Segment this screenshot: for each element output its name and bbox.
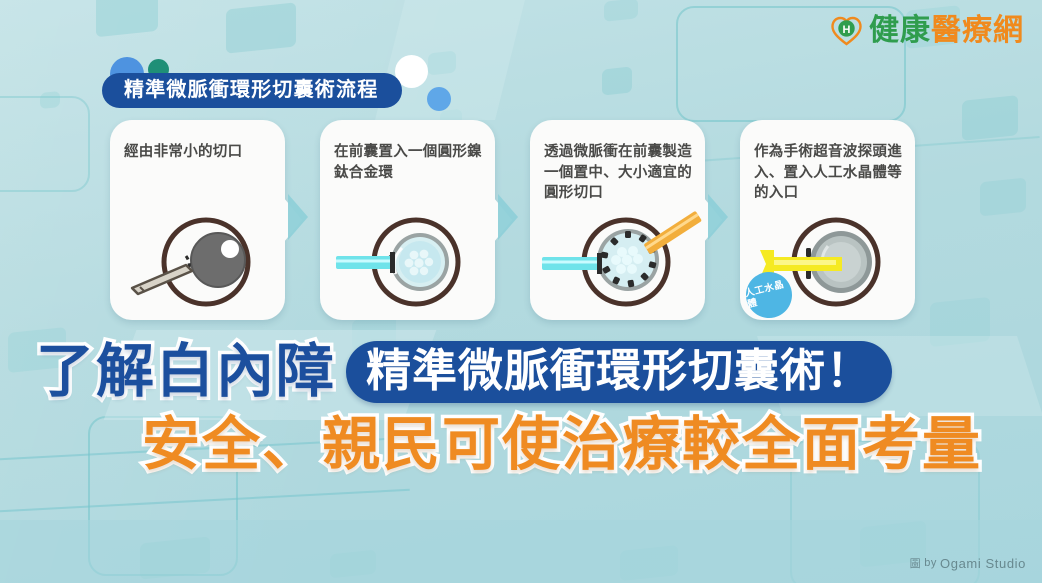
headline-line-1: 了解白內障 精準微脈衝環形切囊術！ [0, 334, 1042, 410]
site-logo: H 健康醫療網 [831, 16, 1024, 46]
credit-prefix: 圖 [910, 555, 922, 571]
svg-text:H: H [843, 24, 851, 36]
step-arrow-2 [498, 194, 518, 240]
credit-by: by [924, 557, 937, 569]
step-card-3: 透過微脈衝在前囊製造一個置中、大小適宜的圓形切口 [530, 120, 705, 320]
process-steps: 經由非常小的切口 在前囊置入一個圓形鎳鈦合金環 [0, 120, 1042, 335]
headline-subtext: 安全、親民可使治療較全面考量 [142, 416, 982, 474]
logo-text-green: 健康 [869, 16, 931, 46]
eye-with-capsulotomy-icon [530, 208, 705, 316]
decorative-dot-lightblue [427, 87, 451, 111]
heart-h-icon: H [831, 16, 862, 46]
step-arrow-1 [288, 194, 308, 240]
headline-plain-text: 了解白內障 [36, 343, 336, 401]
step-arrow-3 [708, 194, 728, 240]
headline-pill-text: 精準微脈衝環形切囊術！ [366, 348, 872, 393]
banner-title-pill: 精準微脈衝環形切囊術流程 [102, 73, 402, 108]
banner-title-group: 精準微脈衝環形切囊術流程 [102, 73, 402, 108]
eye-with-ring-icon [320, 208, 495, 316]
headline-block: 了解白內障 精準微脈衝環形切囊術！ 安全、親民可使治療較全面考量 [0, 334, 1042, 482]
infographic-canvas: H 健康醫療網 精準微脈衝環形切囊術流程 經由非常小的切口 [0, 0, 1042, 583]
logo-text-orange: 醫療網 [931, 16, 1024, 46]
step-card-1-text: 經由非常小的切口 [124, 142, 275, 163]
headline-line-2: 安全、親民可使治療較全面考量 [0, 408, 1042, 482]
headline-pill: 精準微脈衝環形切囊術！ [346, 341, 892, 403]
step-card-1: 經由非常小的切口 [110, 120, 285, 320]
step-card-4-text: 作為手術超音波探頭進入、置入人工水晶體等的入口 [754, 142, 905, 204]
credit-line: 圖 by Ogami Studio [910, 555, 1026, 571]
credit-studio: Ogami Studio [940, 556, 1026, 571]
step-card-2-text: 在前囊置入一個圓形鎳鈦合金環 [334, 142, 485, 183]
eye-with-blade-icon [110, 208, 285, 316]
logo-text: 健康醫療網 [869, 16, 1024, 46]
banner-title-text: 精準微脈衝環形切囊術流程 [124, 80, 378, 100]
step-card-4: 作為手術超音波探頭進入、置入人工水晶體等的入口 [740, 120, 915, 320]
step-card-3-text: 透過微脈衝在前囊製造一個置中、大小適宜的圓形切口 [544, 142, 695, 204]
step-card-2: 在前囊置入一個圓形鎳鈦合金環 [320, 120, 495, 320]
iol-badge-text: 人工水晶體 [744, 279, 794, 311]
